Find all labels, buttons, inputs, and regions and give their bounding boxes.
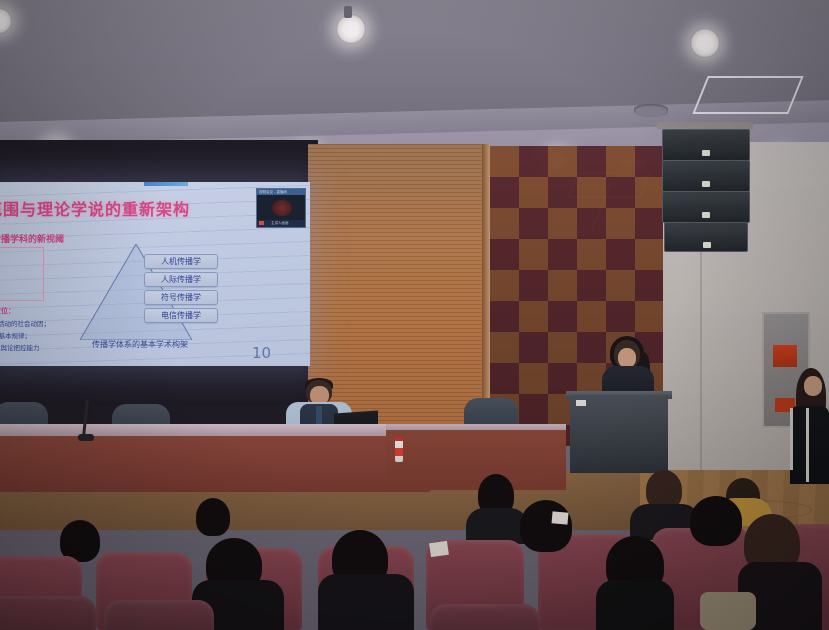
lecture-hall-photo: 范围与理论学说的重新架构 新闻传播学科的新视阈 基本定位： 新闻传播活动的社会动… <box>0 0 829 630</box>
auditorium-seat <box>104 600 214 630</box>
panel-table-front <box>386 430 566 490</box>
slide-callout-box <box>0 247 44 301</box>
line-array-speaker <box>662 160 750 192</box>
aisle-attendee-face <box>804 376 822 396</box>
line-array-speaker <box>662 129 750 161</box>
audience-head <box>520 500 572 552</box>
slide-subtitle: 新闻传播学科的新视阈 <box>0 232 64 245</box>
audience-scarf <box>596 580 674 630</box>
audience-head <box>690 496 742 546</box>
auditorium-seat <box>0 596 96 630</box>
wood-slat-wall-panel <box>308 144 486 444</box>
podium-papers <box>576 400 586 406</box>
audience-shoulders <box>466 508 528 544</box>
webcam-video-feed <box>272 200 292 216</box>
record-indicator-icon <box>259 221 264 225</box>
speaker-led-icon <box>702 212 710 218</box>
slide-section-label: 基本定位： <box>0 306 15 316</box>
ceiling-panel-light <box>692 76 803 114</box>
emergency-sign-icon <box>773 345 797 367</box>
speaker-mount-bracket <box>657 122 753 129</box>
auditorium-seat <box>430 604 540 630</box>
audience-head <box>196 498 230 536</box>
speaker-led-icon <box>703 242 711 248</box>
microphone-base <box>78 434 94 441</box>
slide-bullet: 媒介融合与舆论把控能力 <box>0 342 40 352</box>
webcam-footer-label: 主讲人画面 <box>257 220 305 227</box>
webcam-title: 视频会议 - 直播间 <box>257 189 305 195</box>
pyramid-level-box: 符号传播学 <box>144 290 218 305</box>
ceiling-downlight <box>336 14 366 44</box>
speaker-face <box>618 348 636 368</box>
ceiling-air-vent <box>634 104 668 117</box>
speaker-led-icon <box>702 181 710 187</box>
notebook-page <box>552 511 569 524</box>
slide-title: 范围与理论学说的重新架构 <box>0 196 236 220</box>
pyramid-level-box: 电信传播学 <box>144 308 218 323</box>
speaker-led-icon <box>702 150 710 156</box>
slide-bullet: 信息传播的基本规律； <box>0 330 31 340</box>
podium <box>570 395 668 473</box>
handbag <box>700 592 756 630</box>
aisle-attendee-coat <box>790 406 829 484</box>
webcam-statusbar: 主讲人画面 <box>257 220 305 227</box>
slide-page-number: 10 <box>252 344 271 362</box>
line-array-speaker <box>662 191 750 223</box>
audience-shoulders <box>318 574 414 630</box>
slide-caption: 传播学体系的基本学术构架 <box>92 339 188 350</box>
pyramid-level-box: 人机传播学 <box>144 254 218 269</box>
projected-slide: 范围与理论学说的重新架构 新闻传播学科的新视阈 基本定位： 新闻传播活动的社会动… <box>0 182 310 366</box>
ceiling-downlight <box>690 28 720 58</box>
panel-table-front <box>0 436 430 492</box>
ceiling-light-stem <box>344 6 352 18</box>
line-array-speaker <box>664 222 748 252</box>
water-bottle-label <box>395 448 403 456</box>
pyramid-level-box: 人际传播学 <box>144 272 218 287</box>
coat-trim <box>806 408 809 482</box>
slide-bullet: 新闻传播活动的社会动因； <box>0 318 50 328</box>
webcam-titlebar: 视频会议 - 直播间 <box>257 189 305 195</box>
notebook-page <box>429 541 449 557</box>
water-bottle-cap <box>395 437 403 441</box>
webcam-overlay-window[interactable]: 视频会议 - 直播间 主讲人画面 <box>256 188 306 228</box>
coat-trim <box>790 408 793 470</box>
slide-toolbar-strip[interactable] <box>144 182 188 186</box>
